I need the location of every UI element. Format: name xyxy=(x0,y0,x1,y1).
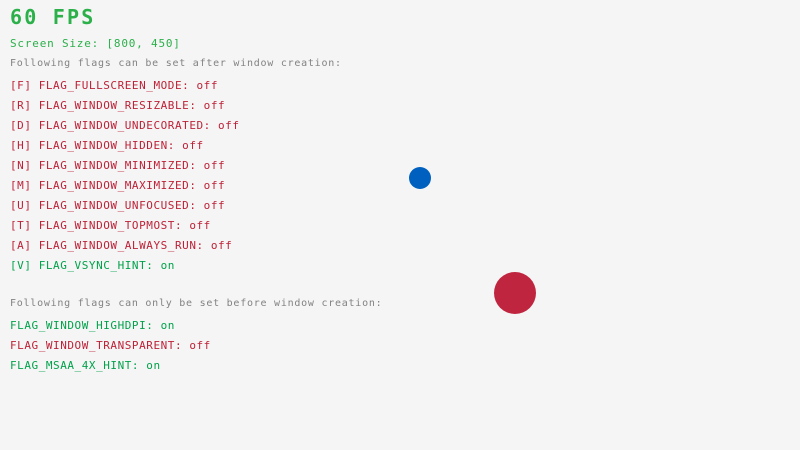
flag-row-msaa-4x-hint: FLAG_MSAA_4X_HINT: on xyxy=(10,360,161,371)
flag-row-window-transparent: FLAG_WINDOW_TRANSPARENT: off xyxy=(10,340,211,351)
flag-row-window-always-run[interactable]: [A] FLAG_WINDOW_ALWAYS_RUN: off xyxy=(10,240,232,251)
flag-row-fullscreen-mode[interactable]: [F] FLAG_FULLSCREEN_MODE: off xyxy=(10,80,218,91)
blue-circle-shape xyxy=(409,167,431,189)
section-header-after-creation: Following flags can be set after window … xyxy=(10,59,342,69)
flag-row-window-hidden[interactable]: [H] FLAG_WINDOW_HIDDEN: off xyxy=(10,140,204,151)
fps-counter: 60 FPS xyxy=(10,7,95,27)
flag-row-window-undecorated[interactable]: [D] FLAG_WINDOW_UNDECORATED: off xyxy=(10,120,240,131)
section-header-before-creation: Following flags can only be set before w… xyxy=(10,299,382,309)
flag-row-window-highdpi: FLAG_WINDOW_HIGHDPI: on xyxy=(10,320,175,331)
flag-row-vsync-hint[interactable]: [V] FLAG_VSYNC_HINT: on xyxy=(10,260,175,271)
screen-size-label: Screen Size: [800, 450] xyxy=(10,38,181,49)
flag-row-window-minimized[interactable]: [N] FLAG_WINDOW_MINIMIZED: off xyxy=(10,160,225,171)
flag-row-window-unfocused[interactable]: [U] FLAG_WINDOW_UNFOCUSED: off xyxy=(10,200,225,211)
flag-row-window-topmost[interactable]: [T] FLAG_WINDOW_TOPMOST: off xyxy=(10,220,211,231)
flag-row-window-resizable[interactable]: [R] FLAG_WINDOW_RESIZABLE: off xyxy=(10,100,225,111)
flag-row-window-maximized[interactable]: [M] FLAG_WINDOW_MAXIMIZED: off xyxy=(10,180,225,191)
raylib-window-canvas: 60 FPS Screen Size: [800, 450] Following… xyxy=(0,0,800,450)
red-circle-shape xyxy=(494,272,536,314)
